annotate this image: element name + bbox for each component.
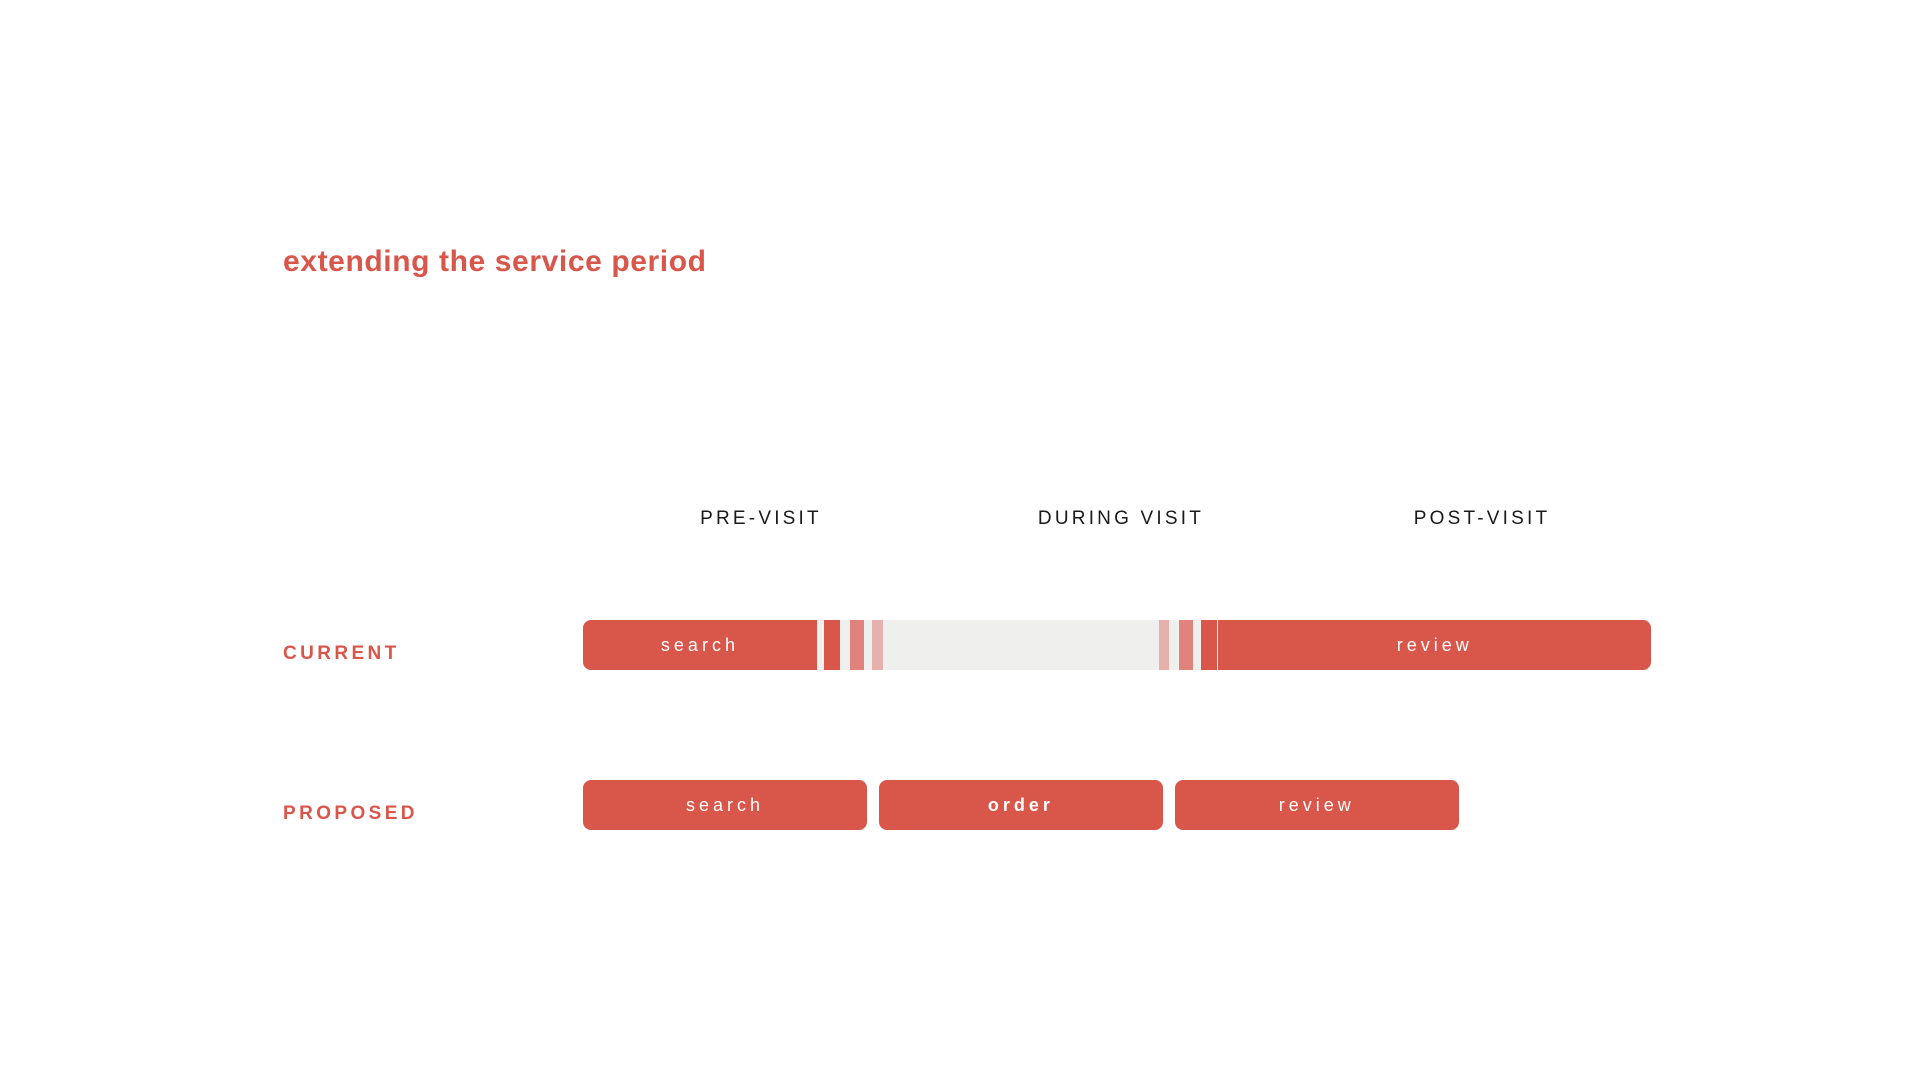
page-title: extending the service period xyxy=(283,245,707,279)
segment-current-review[interactable]: review xyxy=(1218,620,1651,670)
segment-proposed-search[interactable]: search xyxy=(583,780,867,830)
timeline-track-current: search review xyxy=(583,620,1651,670)
stripe-current-search-fade-1 xyxy=(824,620,840,670)
segment-label-current-review: review xyxy=(1397,635,1473,656)
stripe-current-review-fade-3 xyxy=(1159,620,1170,670)
segment-current-search[interactable]: search xyxy=(583,620,817,670)
timeline-proposed: search order review xyxy=(583,780,1651,830)
segment-label-proposed-search: search xyxy=(686,795,764,816)
stripe-current-review-fade-2 xyxy=(1179,620,1193,670)
segment-proposed-order[interactable]: order xyxy=(879,780,1163,830)
service-period-diagram: extending the service period PRE-VISIT D… xyxy=(0,0,1920,1080)
phase-header-post-visit: POST-VISIT xyxy=(1414,508,1551,530)
row-label-current: CURRENT xyxy=(283,643,400,665)
phase-header-pre-visit: PRE-VISIT xyxy=(700,508,822,530)
stripe-current-search-fade-3 xyxy=(872,620,883,670)
segment-label-current-search: search xyxy=(661,635,739,656)
segment-proposed-review[interactable]: review xyxy=(1175,780,1459,830)
row-label-proposed: PROPOSED xyxy=(283,803,418,825)
stripe-current-review-fade-1 xyxy=(1201,620,1217,670)
stripe-current-search-fade-2 xyxy=(850,620,864,670)
phase-header-during-visit: DURING VISIT xyxy=(1038,508,1204,530)
timeline-current: search review xyxy=(583,620,1651,670)
segment-label-proposed-review: review xyxy=(1279,795,1355,816)
segment-label-proposed-order: order xyxy=(988,795,1054,816)
